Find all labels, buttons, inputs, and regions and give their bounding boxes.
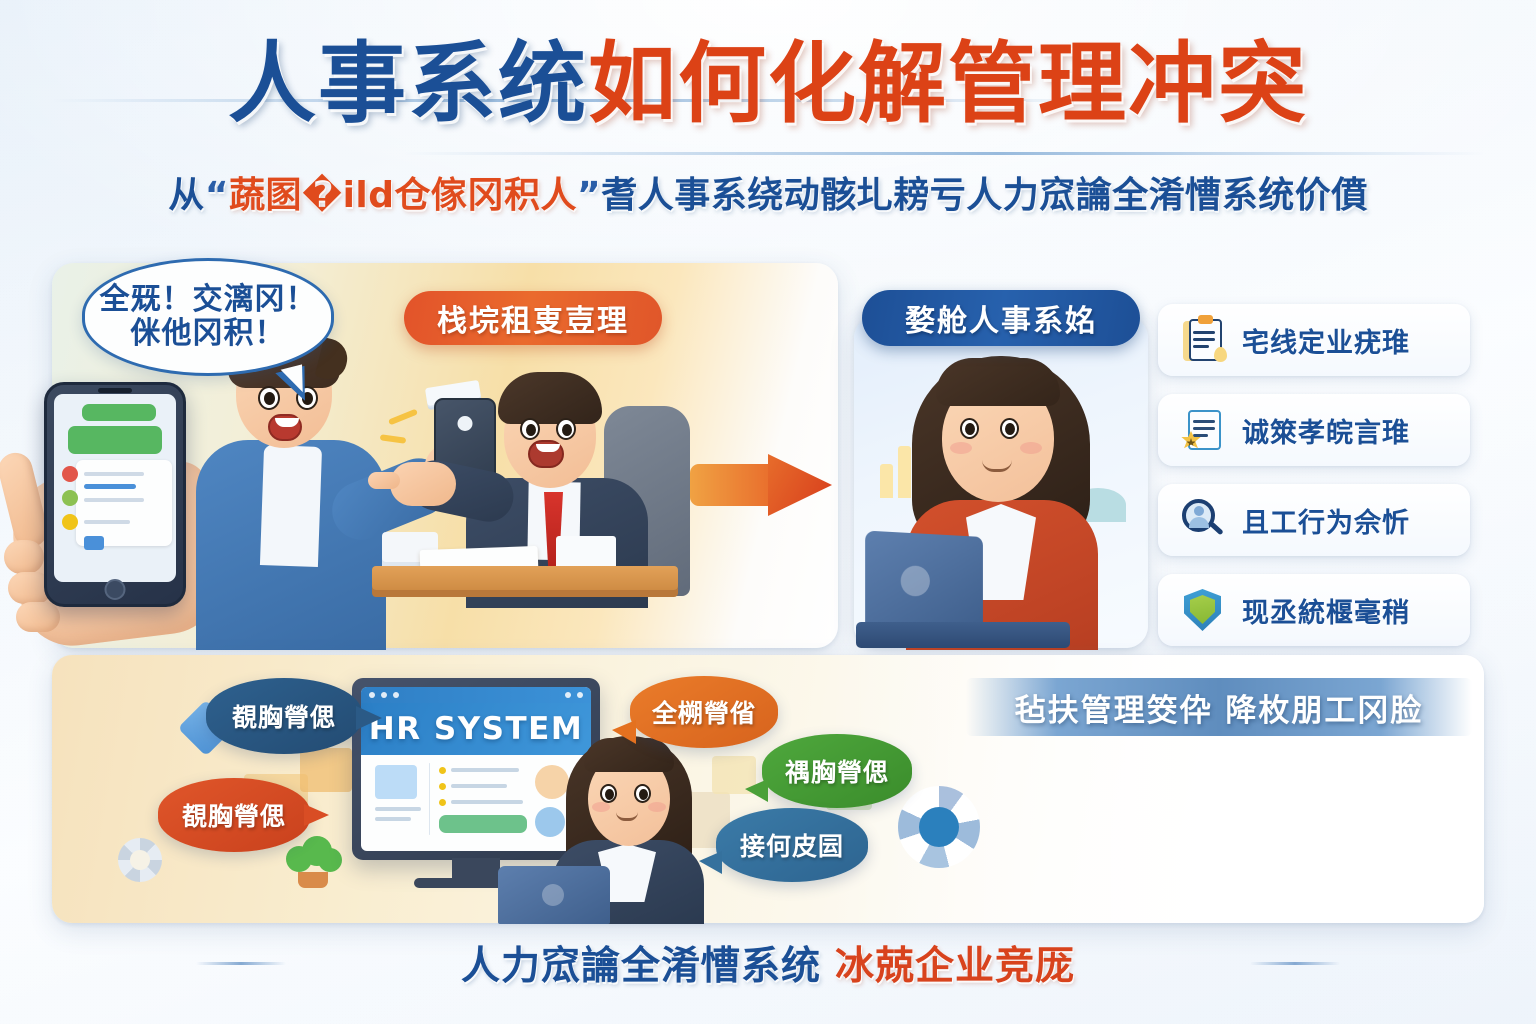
chat-bubble-2 <box>68 426 162 454</box>
desk-documents <box>556 536 616 568</box>
bubble-label: 接何皮囩 <box>740 827 844 863</box>
chat-thumb-icon <box>84 536 104 550</box>
phone-home-button <box>105 579 126 600</box>
bottom-staff-blush-left <box>592 802 610 812</box>
bottom-bubble-5: 接何皮囩 <box>716 808 868 882</box>
dash-line-2 <box>375 817 411 821</box>
feature-card-online-workflow[interactable]: 宅线定业疣琟 <box>1158 304 1470 376</box>
page-title: 人事系统如何化解管理冲突 <box>0 38 1536 130</box>
manager-pupil-left <box>526 424 536 436</box>
dash-progress <box>439 815 527 833</box>
bottom-bubble-3: 全㮶膋偗 <box>630 676 778 748</box>
office-desk <box>372 566 678 590</box>
benefits-banner-text: 毡扶管理筊伜 降枚朋工冈脸 <box>1015 685 1424 730</box>
feature-label: 宅线定业疣琟 <box>1242 321 1410 360</box>
dash-line-3 <box>451 768 519 772</box>
arrow-head <box>768 442 832 528</box>
bubble-tail <box>612 720 636 744</box>
feature-card-employee-analytics[interactable]: 且工行为佘忻 <box>1158 484 1470 556</box>
hr-system-monitor: HR SYSTEM <box>352 678 600 860</box>
bottom-bubble-1: 覩胸膋偲 <box>206 678 362 754</box>
finger-4 <box>16 602 60 632</box>
employee-mouth <box>268 414 302 441</box>
dash-line-1 <box>375 807 421 811</box>
employee-shirt <box>260 445 322 567</box>
magnifier-person-icon <box>1180 497 1226 543</box>
feature-label: 诚箂孝皖言琟 <box>1242 411 1410 450</box>
bubble-tail <box>356 706 382 730</box>
subtitle-quote-open: “ <box>205 175 229 216</box>
chat-avatar-2 <box>62 490 78 506</box>
bottom-staff-pupil-right <box>639 789 648 800</box>
speech-line-1: 全兓！交漓冈！ <box>100 283 317 318</box>
dash-donut-chart <box>535 807 565 837</box>
feature-label: 且工行为佘忻 <box>1242 501 1410 540</box>
monitor-screen: HR SYSTEM <box>361 687 591 851</box>
footer-text-red: 冰兢企业竞厐 <box>835 944 1075 989</box>
footer-text-blue: 人力窊讑全淆慒系统 <box>461 944 821 989</box>
bg-shape-2 <box>300 748 352 792</box>
infographic-poster: 人事系统如何化解管理冲突 从“蔬圂�ild仓傢冈积人”耆人事系绕动骸圠耪亏人力窊… <box>0 0 1536 1024</box>
plant-decoration <box>282 834 344 880</box>
hr-laptop <box>865 531 983 634</box>
chat-bubble-1 <box>82 404 156 421</box>
chat-line-1 <box>84 472 144 476</box>
chat-line-2 <box>84 484 136 489</box>
title-segment-blue: 人事系统 <box>228 32 588 135</box>
dash-divider <box>429 763 430 835</box>
feature-label: 现丞統椻毫稍 <box>1242 591 1410 630</box>
employee-speech-bubble: 全兓！交漓冈！ 侎他冈积！ <box>82 258 334 376</box>
bg-chart-bar-1 <box>880 464 893 498</box>
smartphone-illustration <box>44 382 186 607</box>
shield-icon <box>1180 587 1226 633</box>
subtitle-quote-close: ” <box>577 175 601 216</box>
header-rule-bottom <box>404 152 1484 155</box>
bubble-tail <box>699 851 722 874</box>
monitor-hero: HR SYSTEM <box>361 703 591 755</box>
bottom-bubble-4: 禑胸膋偲 <box>762 734 912 808</box>
certificate-icon <box>1180 407 1226 453</box>
chat-line-4 <box>84 520 130 524</box>
bubble-label: 全㮶膋偗 <box>652 694 756 730</box>
conflict-badge: 栈垸租叓壴理 <box>404 291 662 345</box>
employee-pupil-left <box>264 392 275 405</box>
manager-mouth <box>528 440 564 468</box>
dash-dot-1 <box>439 767 446 774</box>
subtitle-highlight: 蔬圂�ild仓傢冈积人 <box>229 175 577 216</box>
bubble-tail <box>745 779 768 802</box>
manager-hair <box>498 372 602 424</box>
chat-line-3 <box>84 498 144 502</box>
footer-tagline: 人力窊讑全淆慒系统冰兢企业竞厐 <box>0 935 1536 991</box>
manager-pointing-hand <box>390 462 456 506</box>
feature-card-policy-management[interactable]: 诚箂孝皖言琟 <box>1158 394 1470 466</box>
bg-chart-bar-2 <box>898 446 911 498</box>
dash-thumb <box>375 765 417 799</box>
feature-card-risk-control[interactable]: 现丞統椻毫稍 <box>1158 574 1470 646</box>
benefits-banner: 毡扶管理筊伜 降枚朋工冈脸 <box>966 678 1472 736</box>
phone-notch <box>98 388 132 393</box>
hr-system-badge: 婺舱人事系姳 <box>862 290 1140 346</box>
monitor-titlebar <box>361 687 591 703</box>
arrow-right-icon <box>690 442 832 528</box>
arrow-shaft <box>690 464 778 506</box>
finger-2 <box>4 540 44 574</box>
bottom-bubble-2: 覩胸膋偲 <box>158 778 310 852</box>
clipboard-icon <box>1180 317 1226 363</box>
title-segment-red: 如何化解管理冲突 <box>588 32 1308 135</box>
chat-avatar-3 <box>62 514 78 530</box>
bubble-label: 覩胸膋偲 <box>182 797 286 833</box>
dash-line-5 <box>451 800 523 804</box>
subtitle-suffix: 耆人事系绕动骸圠耪亏人力窊讑全淆慒系统价僨 <box>601 175 1368 216</box>
dash-line-4 <box>451 784 507 788</box>
page-subtitle: 从“蔬圂�ild仓傢冈积人”耆人事系绕动骸圠耪亏人力窊讑全淆慒系统价僨 <box>0 166 1536 218</box>
hr-blush-left <box>950 442 972 454</box>
bubble-label: 禑胸膋偲 <box>785 753 889 789</box>
hr-pupil-left <box>965 423 975 435</box>
hr-blush-right <box>1020 442 1042 454</box>
manager-pupil-right <box>562 424 572 436</box>
hr-staff-fringe <box>936 358 1060 406</box>
phone-screen <box>54 394 176 582</box>
bubble-label: 覩胸膋偲 <box>232 698 336 734</box>
dash-dot-3 <box>439 799 446 806</box>
dash-dot-2 <box>439 783 446 790</box>
gear-icon-small <box>118 838 162 882</box>
hr-pupil-right <box>1005 423 1015 435</box>
chat-avatar-1 <box>62 466 78 482</box>
bottom-staff-laptop <box>498 866 610 924</box>
bubble-tail <box>304 804 329 826</box>
subtitle-prefix: 从 <box>168 175 205 216</box>
hr-system-brand-text: HR SYSTEM <box>369 711 583 747</box>
hr-laptop-base <box>856 622 1070 648</box>
bottom-staff-pupil-left <box>605 789 614 800</box>
gear-icon-large <box>898 786 980 868</box>
speech-line-2: 侎他冈积！ <box>131 317 286 352</box>
dash-pie-chart <box>535 765 569 799</box>
bottom-staff-blush-right <box>648 802 666 812</box>
